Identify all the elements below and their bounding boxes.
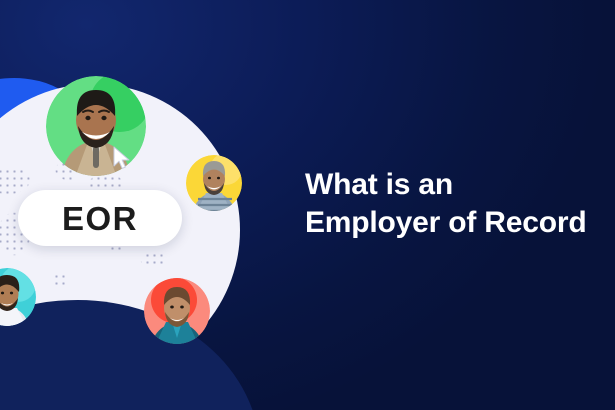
avatar-yellow[interactable] [186,155,242,211]
avatar-coral[interactable] [144,278,210,344]
page-title: What is an Employer of Record [305,166,615,242]
cursor-pointer-icon [112,146,132,170]
eor-badge: EOR [18,190,182,246]
page-title-line-1: What is an [305,166,615,204]
eor-badge-label: EOR [62,202,138,235]
hero-banner: EOR What is an Employer of Record [0,0,615,410]
page-title-line-2: Employer of Record [305,204,615,242]
